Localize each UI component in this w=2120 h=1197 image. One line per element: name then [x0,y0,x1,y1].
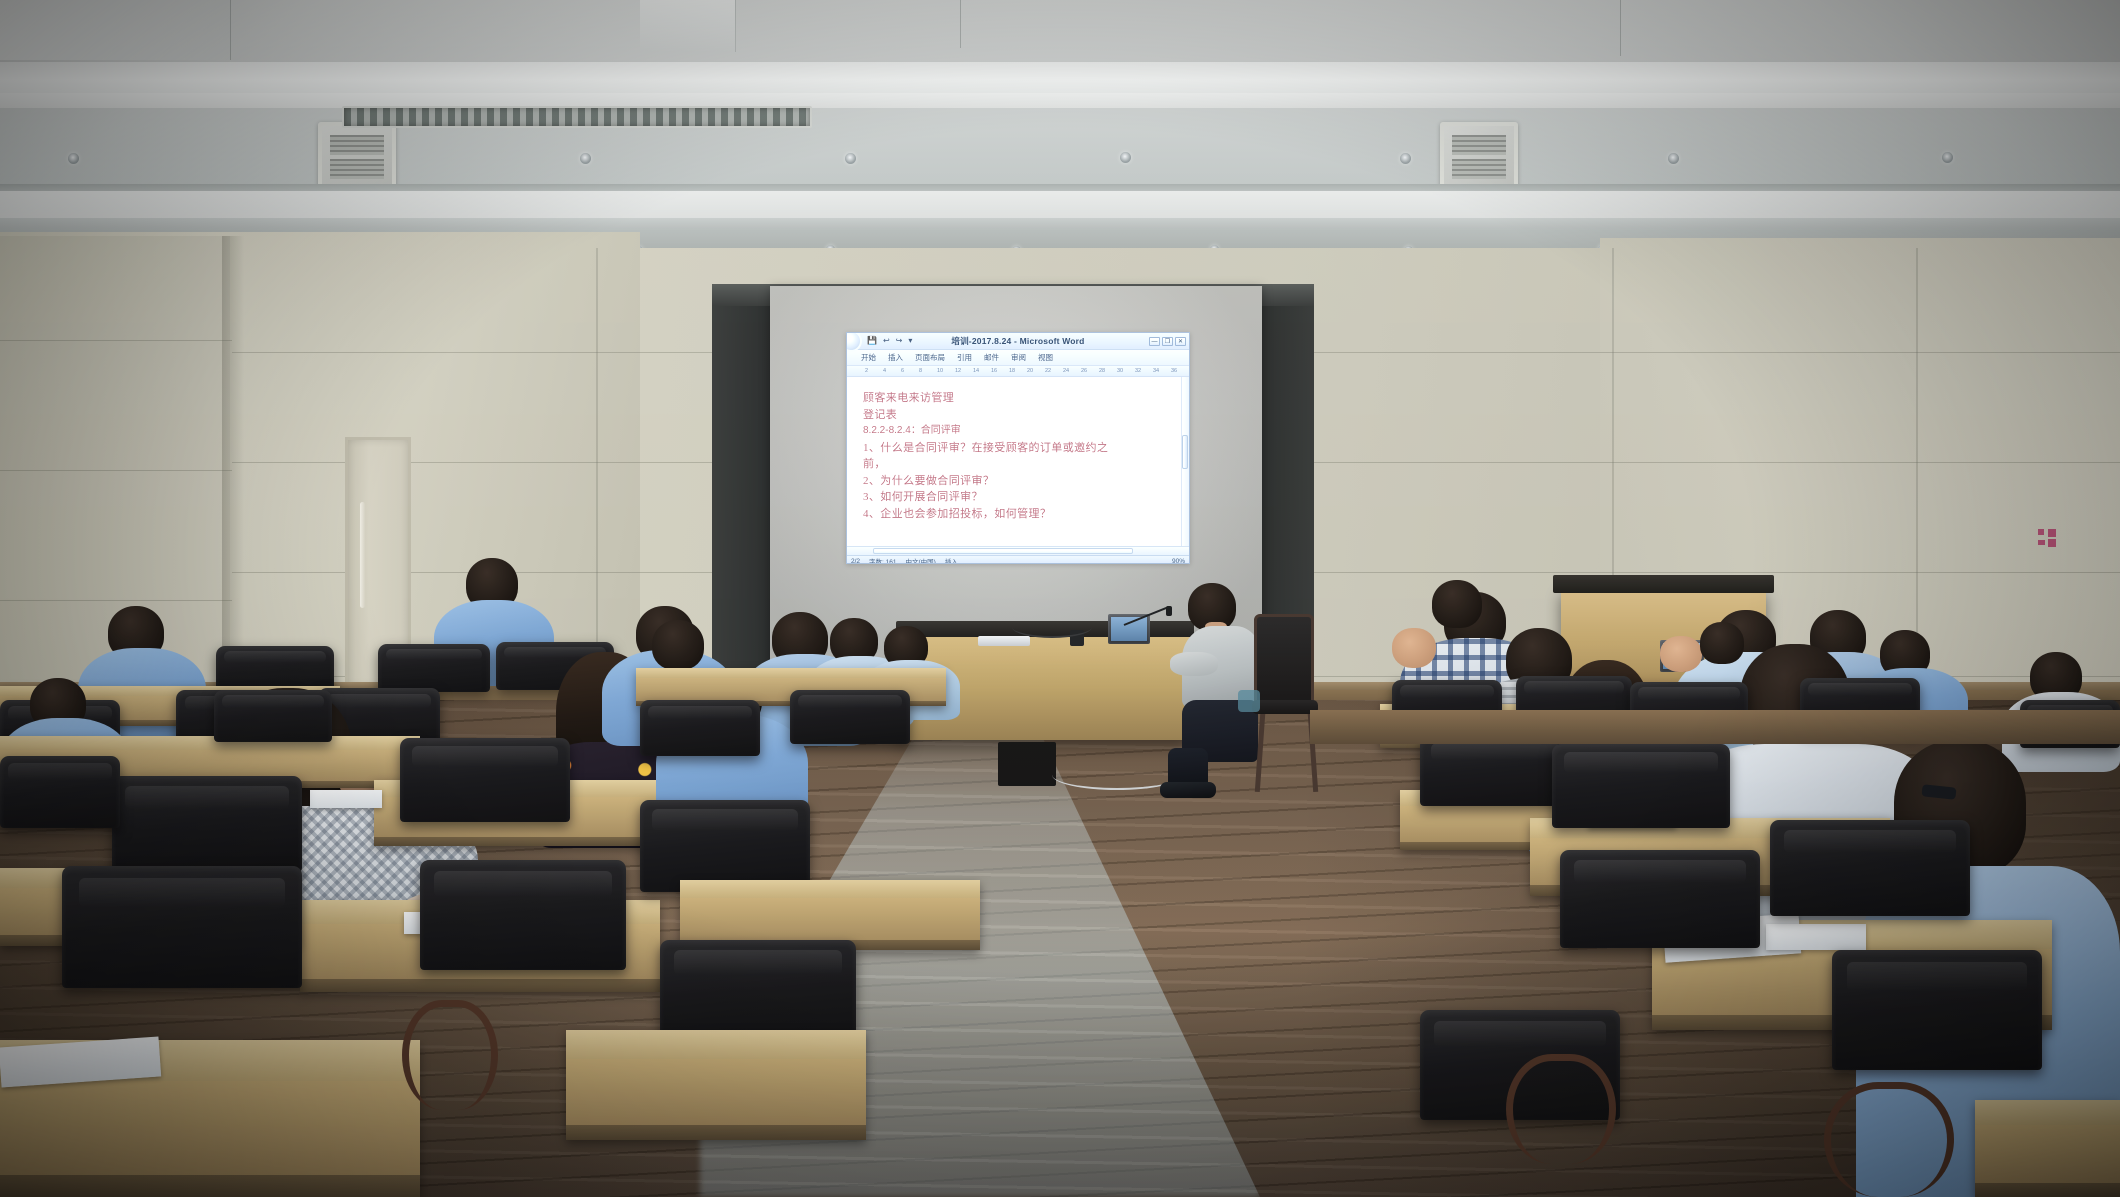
chair[interactable] [640,800,810,892]
ruler-tick: 28 [1099,368,1105,374]
wall-panel-seam [0,470,232,471]
ceiling-spot-icon [1668,153,1679,164]
ceiling-seam [230,0,231,60]
ruler-tick: 14 [973,368,979,374]
tab-review[interactable]: 审阅 [1011,352,1026,363]
word-ruler[interactable]: 2 4 6 8 10 12 14 16 18 20 22 24 26 28 30… [847,366,1189,377]
doc-line: 登记表 [863,407,1175,424]
chair[interactable] [1420,736,1570,806]
chair[interactable] [640,700,760,756]
doc-line: 8.2.2-8.2.4：合同评审 [863,423,1175,440]
ceiling-spot-icon [1400,153,1411,164]
tab-view[interactable]: 视图 [1038,352,1053,363]
wall-panel-seam [0,340,232,341]
ruler-tick: 18 [1009,368,1015,374]
ceiling-lower-band [0,191,2120,221]
wall-vertical-seam [596,248,598,700]
tab-layout[interactable]: 页面布局 [915,352,945,363]
chair[interactable] [62,866,302,988]
tab-mailings[interactable]: 邮件 [984,352,999,363]
screen-surround-left [712,284,772,704]
zoom-level[interactable]: 90% [1172,558,1185,565]
scrollbar-thumb[interactable] [1182,435,1188,469]
tab-insert[interactable]: 插入 [888,352,903,363]
vertical-scrollbar[interactable] [1181,377,1189,546]
ruler-tick: 16 [991,368,997,374]
chair[interactable] [1832,950,2042,1070]
desk [1975,1100,2120,1197]
chair[interactable] [420,860,626,970]
ceiling-spot-icon [1120,152,1131,163]
ceiling-seam [1620,0,1621,56]
linear-vent-icon [342,106,812,128]
ruler-tick: 24 [1063,368,1069,374]
ceiling-spot-icon [845,153,856,164]
language-indicator[interactable]: 中文(中国) [906,556,936,564]
wooden-chair-arm[interactable] [402,1000,498,1110]
presenter-shoe [1160,782,1216,798]
hand [1660,636,1702,672]
projector-remote [978,636,1030,646]
microphone-icon [1166,606,1172,616]
doc-line: 顾客来电来访管理 [863,390,1175,407]
doc-line: 3、如何开展合同评审？ [863,489,1175,506]
ruler-tick: 2 [865,368,868,374]
presenter-laptop[interactable] [1108,614,1154,648]
ceiling-spot-icon [68,153,79,164]
tab-home[interactable]: 开始 [861,352,876,363]
word-window-title: 培训-2017.8.24 - Microsoft Word [847,335,1189,347]
chair[interactable] [0,756,120,828]
paper-sheet [310,790,382,808]
desk [566,1030,866,1140]
wooden-chair-arm[interactable] [1824,1082,1954,1197]
chair[interactable] [790,690,910,744]
doc-line: 1、什么是合同评审？在接受顾客的订单或邀约之 [863,440,1175,457]
wall-red-marking-icon [2038,529,2056,547]
chair[interactable] [1552,744,1730,828]
ruler-tick: 36 [1171,368,1177,374]
tab-references[interactable]: 引用 [957,352,972,363]
ruler-tick: 8 [919,368,922,374]
table-pc-box [998,742,1056,786]
word-status-bar[interactable]: 2/2 字数: 161 中文(中国) 插入 90% [847,555,1189,564]
chair[interactable] [1770,820,1970,916]
doc-line: 2、为什么要做合同评审？ [863,473,1175,490]
chair[interactable] [660,940,856,1044]
cable [1012,616,1092,638]
presenter-arm [1170,652,1218,676]
ruler-tick: 20 [1027,368,1033,374]
lectern-top [1553,575,1774,593]
paper-sheet [1766,924,1866,950]
ruler-tick: 30 [1117,368,1123,374]
ruler-tick: 4 [883,368,886,374]
close-icon[interactable]: ✕ [1175,337,1186,346]
ruler-tick: 34 [1153,368,1159,374]
hand [1392,628,1436,668]
word-ribbon-tabs[interactable]: 开始 插入 页面布局 引用 邮件 审阅 视图 [847,350,1189,366]
ceiling-drop-box [640,0,736,52]
ceiling-spot-icon [1942,152,1953,163]
doc-line: 4、企业也会参加招投标，如何管理？ [863,506,1175,523]
wooden-chair-arm[interactable] [1506,1054,1616,1164]
word-quick-access-toolbar[interactable]: 💾 ↩ ↪ ▾ 培训-2017.8.24 - Microsoft Word — … [847,333,1189,350]
wall-corner-shadow [222,236,244,702]
horizontal-scrollbar[interactable] [847,546,1189,555]
ceiling-seam [960,0,961,48]
minimize-icon[interactable]: — [1149,337,1160,346]
ruler-tick: 26 [1081,368,1087,374]
word-window[interactable]: 💾 ↩ ↪ ▾ 培训-2017.8.24 - Microsoft Word — … [846,332,1190,564]
chair[interactable] [112,776,302,872]
word-count[interactable]: 字数: 161 [869,556,896,564]
ruler-tick: 22 [1045,368,1051,374]
ruler-tick: 6 [901,368,904,374]
insert-mode[interactable]: 插入 [945,556,958,564]
chair[interactable] [1560,850,1760,948]
floor-riser [1310,710,2120,744]
door-handle[interactable] [360,502,365,608]
training-room-photo: 💾 ↩ ↪ ▾ 培训-2017.8.24 - Microsoft Word — … [0,0,2120,1197]
doc-line: 前， [863,456,1175,473]
scrollbar-thumb[interactable] [873,548,1133,554]
ruler-tick: 32 [1135,368,1141,374]
ac-vent-icon [1440,122,1518,192]
chair[interactable] [400,738,570,822]
ruler-tick: 12 [955,368,961,374]
page-indicator[interactable]: 2/2 [851,558,860,565]
window-controls[interactable]: — ❐ ✕ [1149,337,1186,346]
wall-panel-seam [0,600,232,601]
ceiling-soffit-left [0,0,230,60]
ruler-tick: 10 [937,368,943,374]
restore-icon[interactable]: ❐ [1162,337,1173,346]
word-document-page[interactable]: 顾客来电来访管理 登记表 8.2.2-8.2.4：合同评审 1、什么是合同评审？… [847,377,1189,546]
chair[interactable] [214,690,332,742]
chair[interactable] [378,644,490,692]
